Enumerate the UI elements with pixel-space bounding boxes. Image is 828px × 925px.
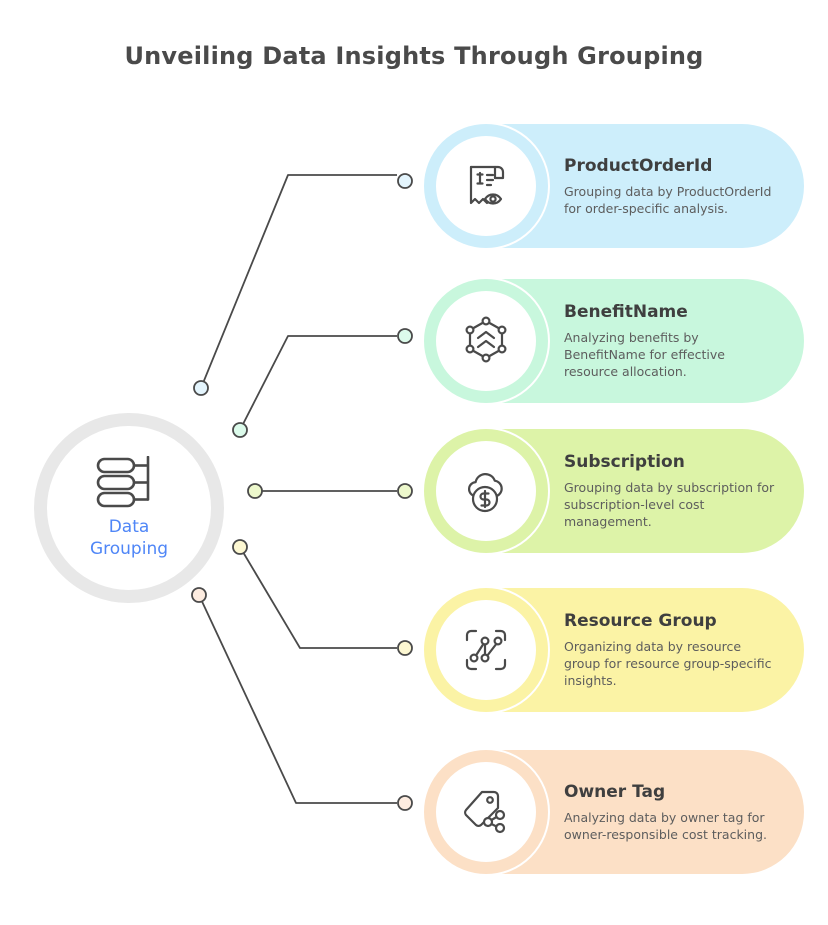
connector-subscription-endpoint-card: [398, 484, 412, 498]
card-icon: [458, 158, 514, 214]
card-title: Resource Group: [564, 611, 779, 631]
connector-resourcegroup-endpoint-hub: [233, 540, 247, 554]
connector-benefitname: [240, 336, 397, 430]
connector-ownertag-endpoint-card: [398, 796, 412, 810]
card-title: ProductOrderId: [564, 156, 779, 176]
invoice-eye-icon: [458, 158, 514, 214]
card-text: SubscriptionGrouping data by subscriptio…: [564, 452, 779, 530]
card-description: Grouping data by subscription for subscr…: [564, 479, 779, 530]
connector-ownertag-endpoint-hub: [192, 588, 206, 602]
hub-node-data-grouping[interactable]: Data Grouping: [34, 413, 224, 603]
connector-productorderid: [201, 175, 397, 388]
card-icon: [458, 313, 514, 369]
card-owner-tag[interactable]: Owner TagAnalyzing data by owner tag for…: [424, 750, 804, 874]
card-icon-circle: [422, 122, 550, 250]
card-description: Organizing data by resource group for re…: [564, 638, 779, 689]
tag-share-icon: [458, 784, 514, 840]
connector-resourcegroup: [240, 547, 397, 648]
card-icon: [458, 463, 514, 519]
connector-benefitname-endpoint-hub: [233, 423, 247, 437]
card-icon-circle: [422, 748, 550, 876]
card-description: Analyzing benefits by BenefitName for ef…: [564, 329, 779, 380]
hexagon-network-chevron-icon: [458, 313, 514, 369]
card-resource-group[interactable]: Resource GroupOrganizing data by resourc…: [424, 588, 804, 712]
card-icon-circle: [422, 586, 550, 714]
card-text: BenefitNameAnalyzing benefits by Benefit…: [564, 302, 779, 380]
card-icon-circle: [422, 277, 550, 405]
connector-ownertag: [199, 595, 397, 803]
connector-resourcegroup-endpoint-card: [398, 641, 412, 655]
card-icon: [458, 784, 514, 840]
cloud-dollar-icon: [458, 463, 514, 519]
connector-subscription-endpoint-hub: [248, 484, 262, 498]
diagram-canvas: Unveiling Data Insights Through Grouping…: [0, 0, 828, 925]
hub-label: Data Grouping: [90, 516, 168, 560]
card-description: Analyzing data by owner tag for owner-re…: [564, 809, 779, 843]
card-icon: [458, 622, 514, 678]
card-text: Resource GroupOrganizing data by resourc…: [564, 611, 779, 689]
card-icon-circle: [422, 427, 550, 555]
connector-benefitname-endpoint-card: [398, 329, 412, 343]
connector-productorderid-endpoint-card: [398, 174, 412, 188]
connector-productorderid-endpoint-hub: [194, 381, 208, 395]
hub-label-line1: Data: [90, 516, 168, 538]
card-text: Owner TagAnalyzing data by owner tag for…: [564, 782, 779, 843]
node-graph-square-icon: [458, 622, 514, 678]
grouping-bracket-icon: [96, 456, 162, 510]
card-description: Grouping data by ProductOrderId for orde…: [564, 183, 779, 217]
card-text: ProductOrderIdGrouping data by ProductOr…: [564, 156, 779, 217]
card-title: BenefitName: [564, 302, 779, 322]
card-productorderid[interactable]: ProductOrderIdGrouping data by ProductOr…: [424, 124, 804, 248]
card-title: Subscription: [564, 452, 779, 472]
card-benefitname[interactable]: BenefitNameAnalyzing benefits by Benefit…: [424, 279, 804, 403]
card-title: Owner Tag: [564, 782, 779, 802]
card-subscription[interactable]: SubscriptionGrouping data by subscriptio…: [424, 429, 804, 553]
hub-label-line2: Grouping: [90, 538, 168, 560]
